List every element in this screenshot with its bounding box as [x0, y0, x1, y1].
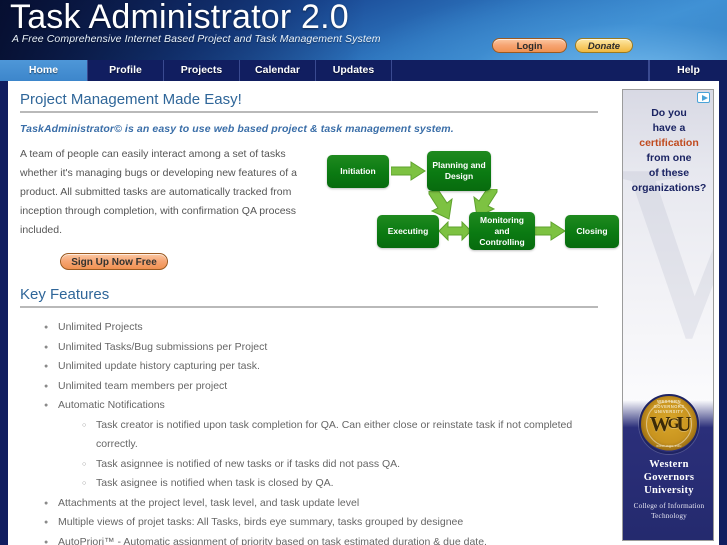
feature-item-label: Attachments at the project level, task l…: [58, 497, 359, 509]
site-header: Task Administrator 2.0 A Free Comprehens…: [0, 0, 727, 60]
nav-item-help[interactable]: Help: [649, 60, 727, 81]
feature-item-label: Unlimited team members per project: [58, 380, 227, 392]
main-navigation: Home Profile Projects Calendar Updates H…: [0, 60, 727, 81]
flow-node-closing: Closing: [565, 215, 619, 248]
nav-item-updates[interactable]: Updates: [316, 60, 392, 81]
feature-subitem: Task asignnee is notified of new tasks o…: [58, 455, 598, 475]
ad-headline-line: Do you: [623, 106, 714, 121]
flow-node-executing: Executing: [377, 215, 439, 248]
wgu-seal-icon: WESTERN GOVERNORS UNIVERSITY WGU www.wgu…: [639, 394, 699, 454]
feature-item-label: Unlimited update history capturing per t…: [58, 360, 260, 372]
nav-item-profile[interactable]: Profile: [88, 60, 164, 81]
intro-body-text: A team of people can easily interact amo…: [20, 145, 312, 240]
login-button[interactable]: Login: [492, 38, 567, 53]
feature-item: Multiple views of projet tasks: All Task…: [20, 513, 598, 533]
right-border-accent: [719, 81, 727, 545]
feature-item-label: Unlimited Tasks/Bug submissions per Proj…: [58, 341, 267, 353]
arrow-executing-monitoring-bidirectional: [439, 221, 471, 242]
flow-node-planning-and-design: Planning and Design: [427, 151, 491, 191]
feature-item-label: AutoPriori™ - Automatic assignment of pr…: [58, 536, 487, 545]
feature-item-label: Unlimited Projects: [58, 321, 143, 333]
feature-item: Unlimited Tasks/Bug submissions per Proj…: [20, 338, 598, 358]
arrow-monitoring-to-closing: [533, 221, 567, 241]
wgu-seal-bottom-text: www.wgu.edu: [641, 444, 697, 448]
intro-row: A team of people can easily interact amo…: [20, 145, 598, 270]
signup-button[interactable]: Sign Up Now Free: [60, 253, 168, 270]
site-tagline: A Free Comprehensive Internet Based Proj…: [12, 33, 381, 45]
ad-choices-triangle-icon[interactable]: [697, 92, 710, 103]
ad-headline-line: of these: [623, 166, 714, 181]
nav-item-home[interactable]: Home: [0, 60, 88, 81]
wgu-college-name: College of Information Technology: [623, 501, 714, 521]
intro-tagline: TaskAdministrator© is an easy to use web…: [20, 123, 598, 135]
feature-item: Unlimited update history capturing per t…: [20, 357, 598, 377]
donate-button[interactable]: Donate: [575, 38, 633, 53]
ad-headline-line: certification: [623, 136, 714, 151]
feature-item: Attachments at the project level, task l…: [20, 494, 598, 514]
main-column: Project Management Made Easy! TaskAdmini…: [8, 81, 610, 545]
page-content: Project Management Made Easy! TaskAdmini…: [0, 81, 727, 545]
ad-headline-line: have a: [623, 121, 714, 136]
feature-item: Unlimited Projects: [20, 318, 598, 338]
arrow-initiation-to-planning: [391, 161, 427, 181]
intro-heading: Project Management Made Easy!: [20, 91, 598, 111]
page-root: Task Administrator 2.0 A Free Comprehens…: [0, 0, 727, 545]
feature-list: Unlimited ProjectsUnlimited Tasks/Bug su…: [20, 318, 598, 545]
features-heading: Key Features: [20, 286, 598, 306]
feature-item: Unlimited team members per project: [20, 377, 598, 397]
ad-headline-line: organizations?: [623, 181, 714, 196]
intro-rule: [20, 111, 598, 113]
features-rule: [20, 306, 598, 308]
flow-node-initiation: Initiation: [327, 155, 389, 188]
wgu-university-name: Western Governors University: [623, 458, 714, 497]
ad-headline: Do youhave acertificationfrom oneof thes…: [623, 106, 714, 196]
feature-subitem: Task asignee is notified when task is cl…: [58, 474, 598, 494]
ad-headline-line: from one: [623, 151, 714, 166]
feature-item: AutoPriori™ - Automatic assignment of pr…: [20, 533, 598, 545]
project-lifecycle-diagram: Initiation Planning and Design Executing…: [317, 151, 607, 256]
site-title: Task Administrator 2.0: [10, 0, 349, 35]
advertisement-panel[interactable]: W Do youhave acertificationfrom oneof th…: [622, 89, 714, 541]
nav-spacer: [392, 60, 649, 81]
feature-item-label: Automatic Notifications: [58, 399, 165, 411]
wgu-branding-block: WESTERN GOVERNORS UNIVERSITY WGU www.wgu…: [623, 388, 714, 540]
key-features-section: Key Features Unlimited ProjectsUnlimited…: [20, 286, 598, 545]
nav-item-calendar[interactable]: Calendar: [240, 60, 316, 81]
feature-item-label: Multiple views of projet tasks: All Task…: [58, 516, 463, 528]
feature-sublist: Task creator is notified upon task compl…: [58, 416, 598, 494]
flow-node-monitoring-and-controlling: Monitoring and Controlling: [469, 212, 535, 250]
nav-item-projects[interactable]: Projects: [164, 60, 240, 81]
left-border-accent: [0, 81, 8, 545]
feature-subitem: Task creator is notified upon task compl…: [58, 416, 598, 455]
feature-item: Automatic NotificationsTask creator is n…: [20, 396, 598, 494]
